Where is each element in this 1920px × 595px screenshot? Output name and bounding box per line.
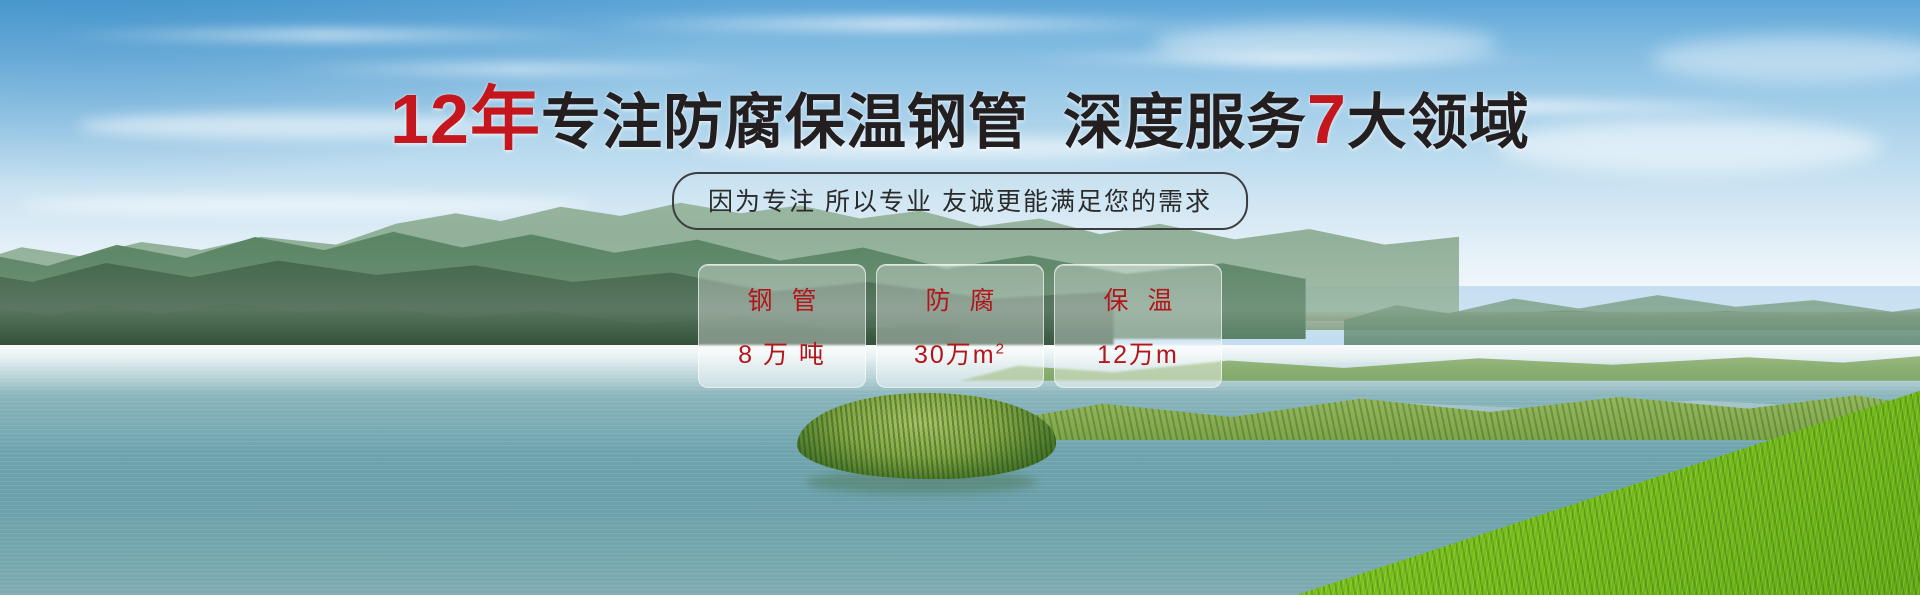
headline-segment-3: 大领域 xyxy=(1347,89,1530,156)
stat-card[interactable]: 钢 管 8 万 吨 xyxy=(698,264,866,388)
headline-segment-1: 专注防腐保温钢管 xyxy=(541,89,1029,156)
subtitle-pill: 因为专注 所以专业 友诚更能满足您的需求 xyxy=(672,172,1248,230)
headline-fields-number: 7 xyxy=(1307,80,1347,158)
stat-card-value-text: 12万m xyxy=(1097,341,1179,369)
headline-years-unit: 年 xyxy=(470,80,541,158)
headline-years-number: 12 xyxy=(390,80,470,158)
stat-card-value-superscript: 2 xyxy=(996,341,1006,358)
headline: 12年专注防腐保温钢管深度服务7大领域 xyxy=(0,84,1920,154)
stat-card-value: 8 万 吨 xyxy=(738,335,826,371)
stat-card-title: 防 腐 xyxy=(920,281,1001,317)
banner-content: 12年专注防腐保温钢管深度服务7大领域 因为专注 所以专业 友诚更能满足您的需求… xyxy=(0,0,1920,595)
stat-card-title: 钢 管 xyxy=(742,281,823,317)
stat-card[interactable]: 防 腐 30万m2 xyxy=(876,264,1044,388)
hero-banner: 12年专注防腐保温钢管深度服务7大领域 因为专注 所以专业 友诚更能满足您的需求… xyxy=(0,0,1920,595)
stat-card-list: 钢 管 8 万 吨 防 腐 30万m2 保 温 12万m xyxy=(698,264,1222,388)
stat-card[interactable]: 保 温 12万m xyxy=(1054,264,1222,388)
stat-card-title: 保 温 xyxy=(1098,281,1179,317)
stat-card-value: 12万m xyxy=(1097,335,1179,371)
headline-segment-2: 深度服务 xyxy=(1063,89,1307,156)
stat-card-value-text: 30万m xyxy=(914,341,996,369)
stat-card-value-text: 8 万 吨 xyxy=(738,341,826,369)
stat-card-value: 30万m2 xyxy=(914,335,1006,371)
